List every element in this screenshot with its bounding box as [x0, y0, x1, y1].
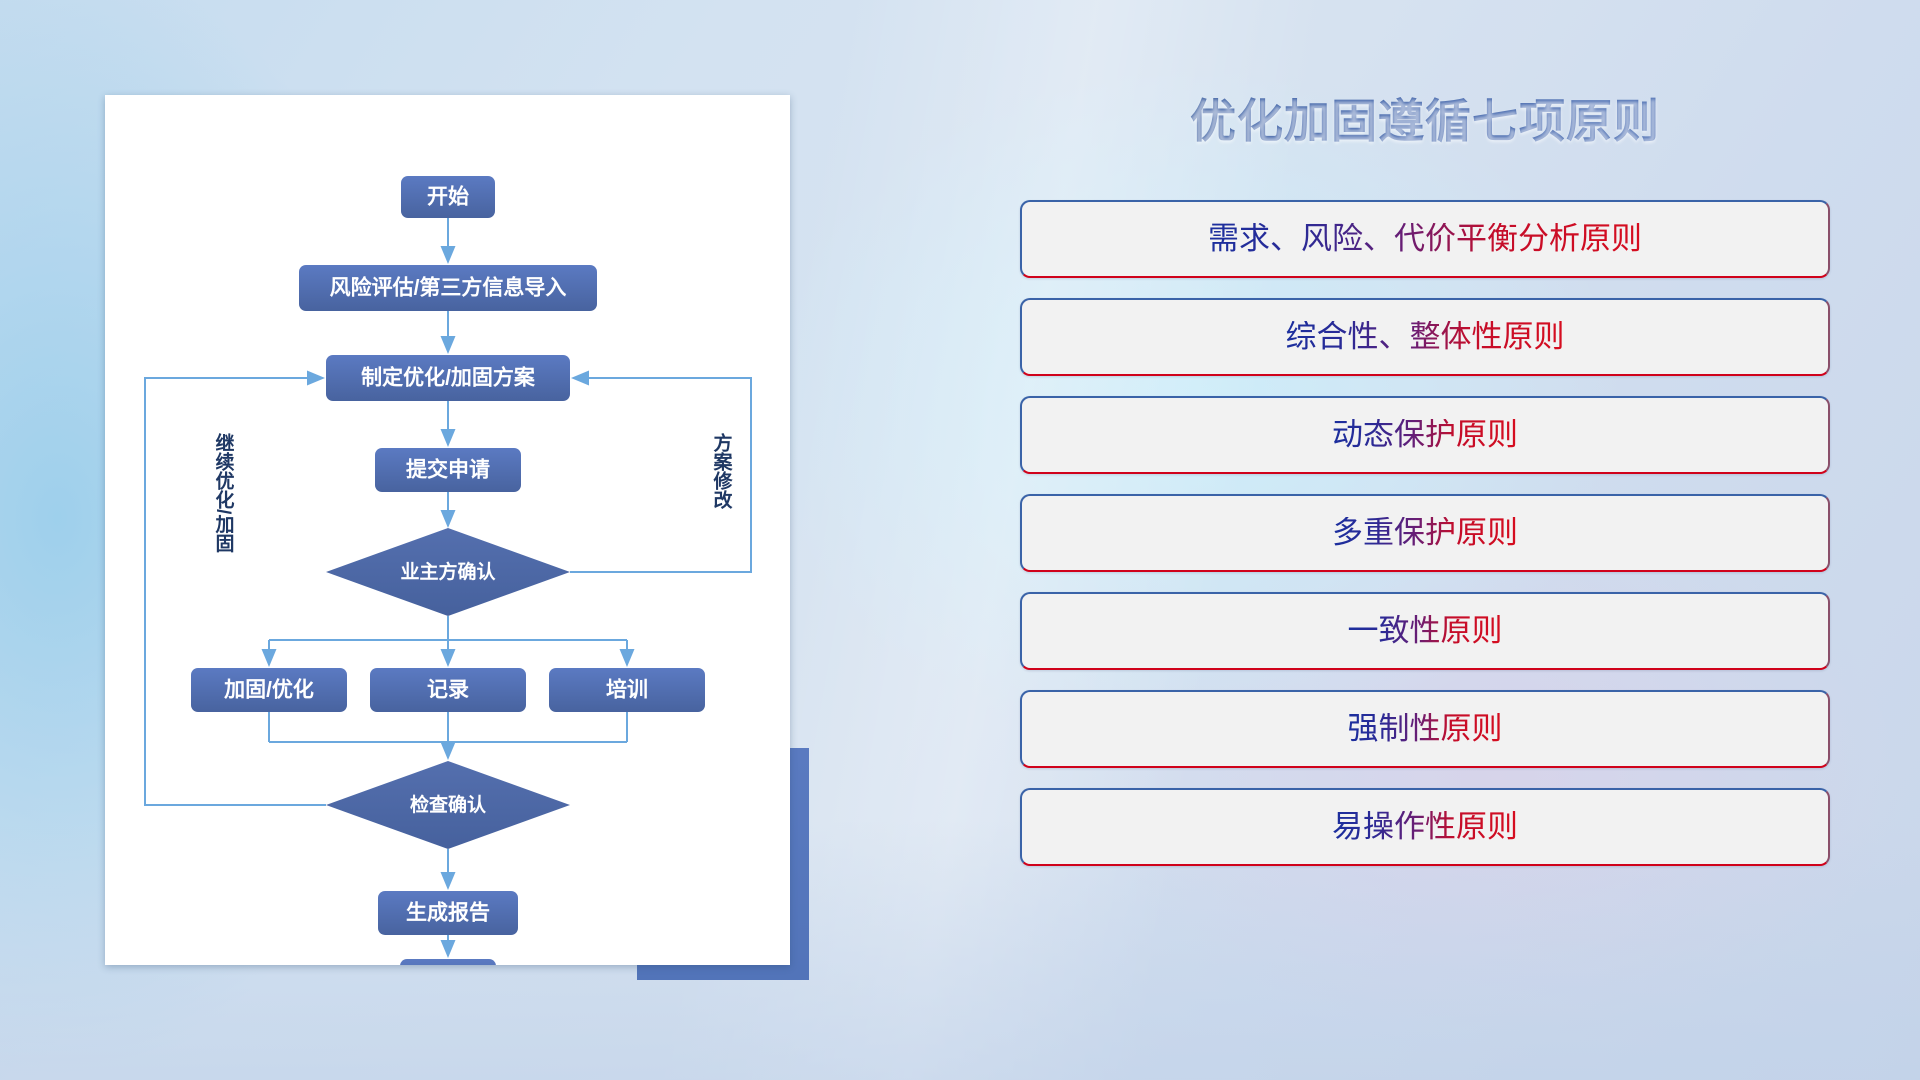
principle-item[interactable]: 动态保护原则 — [1020, 396, 1830, 474]
flow-node-label: 记录 — [427, 679, 469, 702]
principle-label: 易操作性原则 — [1332, 811, 1518, 842]
flowchart-nodes: 开始风险评估/第三方信息导入制定优化/加固方案提交申请业主方确认加固/优化记录培… — [191, 176, 705, 965]
flow-node-label: 开始 — [427, 185, 469, 209]
principles-list: 需求、风险、代价平衡分析原则综合性、整体性原则动态保护原则多重保护原则一致性原则… — [1020, 200, 1830, 866]
flow-node-check[interactable]: 检查确认 — [326, 761, 570, 849]
page-title: 优化加固遵循七项原则 — [1020, 95, 1830, 154]
flow-node-report[interactable]: 生成报告 — [378, 891, 518, 935]
flow-node-training[interactable]: 培训 — [549, 668, 705, 712]
flow-node-label: 制定优化/加固方案 — [361, 366, 536, 390]
flow-node-label: 生成报告 — [406, 901, 490, 925]
flow-node-record[interactable]: 记录 — [370, 668, 526, 712]
flow-node-label: 加固/优化 — [223, 678, 314, 702]
flow-node-plan[interactable]: 制定优化/加固方案 — [326, 355, 570, 401]
flow-node-owner[interactable]: 业主方确认 — [326, 528, 570, 616]
flow-node-end[interactable]: 结束 — [400, 959, 496, 965]
flow-node-label: 检查确认 — [410, 793, 486, 816]
principle-label: 一致性原则 — [1348, 615, 1503, 646]
principle-label: 多重保护原则 — [1332, 517, 1518, 548]
flow-node-label: 风险评估/第三方信息导入 — [330, 276, 567, 300]
principles-panel: 优化加固遵循七项原则 需求、风险、代价平衡分析原则综合性、整体性原则动态保护原则… — [1020, 95, 1830, 995]
principle-item[interactable]: 一致性原则 — [1020, 592, 1830, 670]
principle-item[interactable]: 综合性、整体性原则 — [1020, 298, 1830, 376]
principle-item[interactable]: 多重保护原则 — [1020, 494, 1830, 572]
edge-check-plan-continue — [145, 378, 326, 805]
flow-edge-label-loop-right: 方案修改 — [711, 432, 734, 510]
flow-node-risk[interactable]: 风险评估/第三方信息导入 — [299, 265, 597, 311]
flow-node-label: 培训 — [606, 678, 648, 702]
principle-label: 动态保护原则 — [1332, 419, 1518, 450]
principle-label: 需求、风险、代价平衡分析原则 — [1208, 223, 1642, 254]
principle-item[interactable]: 易操作性原则 — [1020, 788, 1830, 866]
flow-node-submit[interactable]: 提交申请 — [375, 448, 521, 492]
flow-node-shape-rect — [400, 959, 496, 965]
flow-node-label: 提交申请 — [406, 458, 490, 482]
principle-label: 强制性原则 — [1348, 713, 1503, 744]
flow-node-start[interactable]: 开始 — [401, 176, 495, 218]
flowchart-card: 开始风险评估/第三方信息导入制定优化/加固方案提交申请业主方确认加固/优化记录培… — [105, 95, 790, 965]
principle-label: 综合性、整体性原则 — [1286, 321, 1565, 352]
flow-node-label: 业主方确认 — [400, 560, 495, 583]
principle-item[interactable]: 需求、风险、代价平衡分析原则 — [1020, 200, 1830, 278]
flow-node-reinforce[interactable]: 加固/优化 — [191, 668, 347, 712]
principle-item[interactable]: 强制性原则 — [1020, 690, 1830, 768]
flowchart-diagram: 开始风险评估/第三方信息导入制定优化/加固方案提交申请业主方确认加固/优化记录培… — [105, 95, 790, 965]
flow-edge-label-loop-left: 继续优化/加固 — [213, 432, 236, 553]
